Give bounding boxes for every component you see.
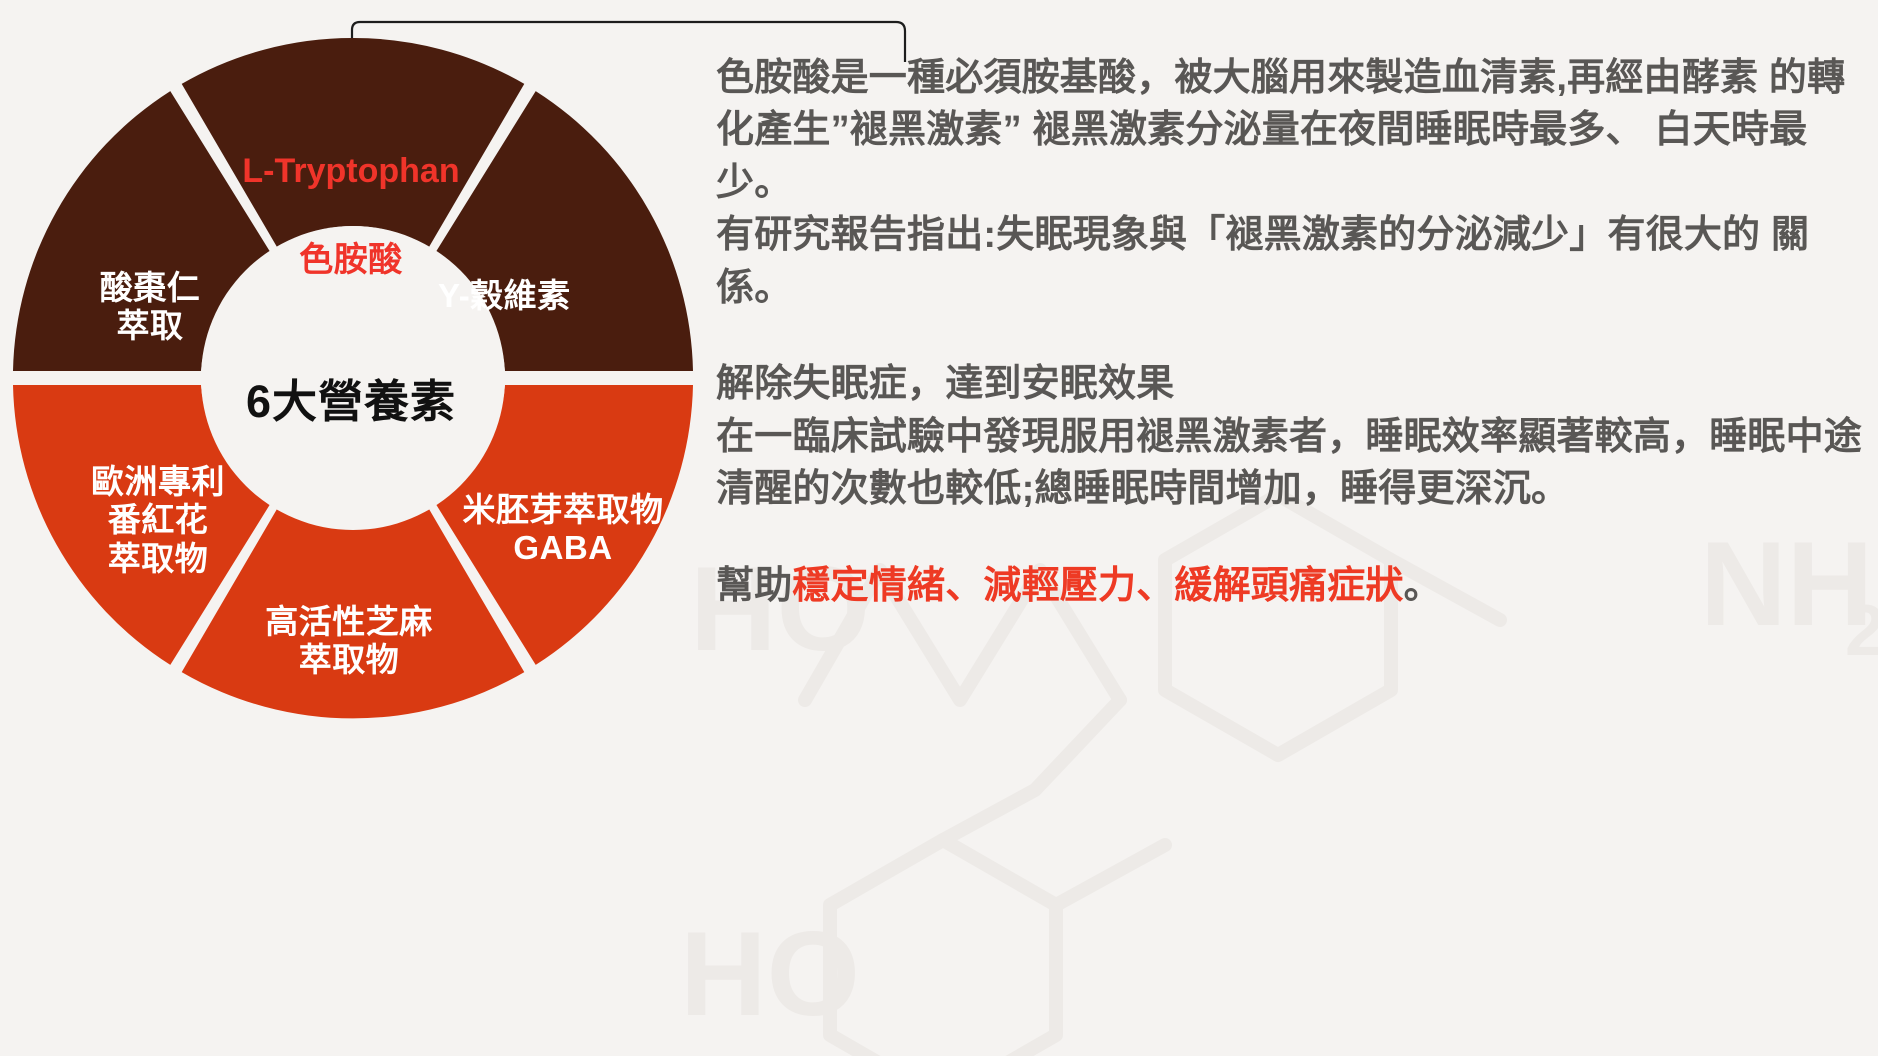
donut-hub-label: 6大營養素 — [196, 365, 506, 430]
paragraph-spacer-2 — [716, 516, 1866, 560]
paragraph-clinical-trial: 在一臨床試驗中發現服用褪黑激素者，睡眠效率顯著較高，睡眠中途清醒的次數也較低;總… — [716, 411, 1866, 516]
benefits-suffix: 。 — [1404, 565, 1442, 607]
paragraph-tryptophan-intro: 色胺酸是一種必須胺基酸，被大腦用來製造血清素,再經由酵素 的轉化產生”褪黑激素”… — [716, 52, 1866, 209]
nutrients-donut-chart: L-Tryptophan 色胺酸 Y-穀維素 米胚芽萃取物 GABA 高活性芝麻… — [0, 25, 706, 731]
infographic-slide: HO NH 2 HO — [0, 0, 1878, 1056]
paragraph-benefits-summary: 幫助穩定情緒、減輕壓力、緩解頭痛症狀。 — [716, 560, 1866, 612]
paragraph-insomnia-research: 有研究報告指出:失眠現象與「褪黑激素的分泌減少」有很大的 關係。 — [716, 209, 1866, 314]
watermark-ho-bottom: HO — [680, 907, 860, 1041]
benefits-highlight: 穩定情緒、減輕壓力、緩解頭痛症狀 — [792, 565, 1403, 607]
paragraph-sleep-benefit-heading: 解除失眠症，達到安眠效果 — [716, 358, 1866, 410]
description-text-column: 色胺酸是一種必須胺基酸，被大腦用來製造血清素,再經由酵素 的轉化產生”褪黑激素”… — [716, 52, 1866, 612]
paragraph-spacer — [716, 314, 1866, 358]
benefits-prefix: 幫助 — [716, 565, 792, 607]
